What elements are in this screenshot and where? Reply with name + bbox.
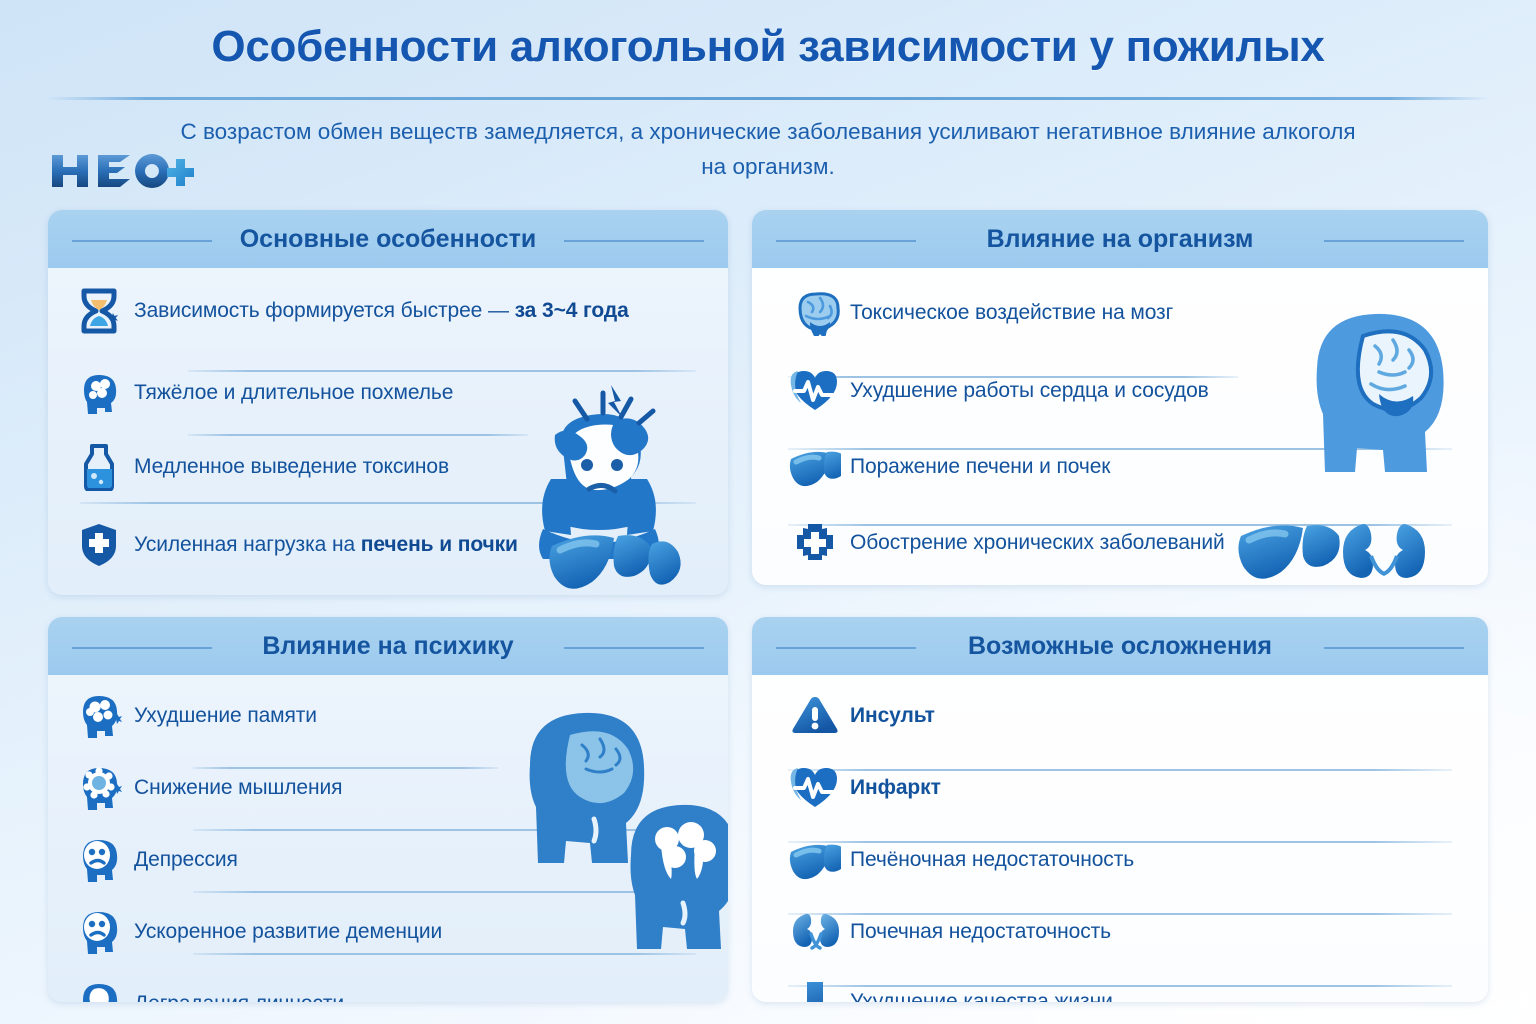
heart-pulse-icon	[788, 761, 842, 815]
card-main-features: Основные особенности	[48, 210, 728, 595]
card-title: Возможные осложнения	[950, 632, 1290, 661]
header-rule-right	[1324, 647, 1464, 649]
list-item-label: Обострение хронических заболеваний	[850, 531, 1225, 555]
list-item-label: Ухудшение работы сердца и сосудов	[850, 379, 1209, 403]
list-item-label: Усиленная нагрузка на печень и почки	[134, 533, 518, 557]
list-item[interactable]: Ухудшение памяти	[48, 689, 728, 743]
list-item[interactable]: Снижение мышления	[48, 761, 728, 815]
head-thinking-icon	[72, 761, 126, 815]
card-header: Основные особенности	[48, 210, 728, 268]
down-arrow-icon	[788, 975, 842, 1002]
card-body: Зависимость формируется быстрее — за 3~4…	[48, 284, 728, 595]
card-header: Влияние на психику	[48, 617, 728, 675]
header-rule-left	[776, 240, 916, 242]
list-item[interactable]: Медленное выведение токсинов	[48, 440, 728, 494]
list-item[interactable]: Ускоренное развитие деменции	[48, 905, 728, 959]
card-header: Влияние на организм	[752, 210, 1488, 268]
list-item-label: Ускоренное развитие деменции	[134, 920, 442, 944]
list-item[interactable]: Усиленная нагрузка на печень и почки	[48, 518, 728, 572]
row-separator	[193, 891, 696, 893]
head-dementia-icon	[72, 905, 126, 959]
liver-icon	[788, 833, 842, 887]
list-item[interactable]: Печёночная недостаточность	[752, 833, 1488, 887]
page-title: Особенности алкогольной зависимости у по…	[0, 22, 1536, 72]
card-body-effects: Влияние на организм	[752, 210, 1488, 585]
header-rule-left	[72, 240, 212, 242]
list-item-label: Почечная недостаточность	[850, 920, 1111, 944]
list-item-label: Тяжёлое и длительное похмелье	[134, 381, 453, 405]
head-degrade-icon	[72, 977, 126, 1002]
list-item-label: Ухудшение памяти	[134, 704, 317, 728]
list-item[interactable]: Зависимость формируется быстрее — за 3~4…	[48, 284, 728, 338]
list-item-label: Снижение мышления	[134, 776, 342, 800]
list-item[interactable]: Обострение хронических заболеваний	[752, 516, 1488, 570]
list-item-label: Поражение печени и почек	[850, 455, 1110, 479]
card-title: Влияние на организм	[969, 225, 1272, 254]
heart-pulse-icon	[788, 364, 842, 418]
list-item-label: Печёночная недостаточность	[850, 848, 1134, 872]
header-rule-right	[564, 647, 704, 649]
liver-icon	[788, 440, 842, 494]
list-item-label: Инсульт	[850, 704, 935, 728]
brand-logo	[48, 148, 198, 194]
header-rule-right	[564, 240, 704, 242]
card-title: Влияние на психику	[244, 632, 531, 661]
infographic-canvas: Особенности алкогольной зависимости у по…	[0, 0, 1536, 1024]
head-sad-icon	[72, 833, 126, 887]
shield-cross-icon	[72, 518, 126, 572]
row-separator	[188, 434, 528, 436]
head-memory-icon	[72, 689, 126, 743]
card-psyche-effects: Влияние на психику	[48, 617, 728, 1002]
card-body: Токсическое воздействие на мозг Ухудшени…	[752, 286, 1488, 585]
row-separator	[80, 502, 696, 504]
title-divider	[46, 97, 1490, 100]
card-title: Основные особенности	[222, 225, 555, 254]
list-item[interactable]: Токсическое воздействие на мозг	[752, 286, 1488, 340]
row-separator	[193, 829, 696, 831]
list-item[interactable]: Инфаркт	[752, 761, 1488, 815]
list-item-label: Медленное выведение токсинов	[134, 455, 449, 479]
header-rule-left	[776, 647, 916, 649]
card-header: Возможные осложнения	[752, 617, 1488, 675]
medical-cross-icon	[788, 516, 842, 570]
list-item[interactable]: Ухудшение качества жизни	[752, 975, 1488, 1002]
flask-icon	[72, 440, 126, 494]
brain-icon	[788, 286, 842, 340]
card-body: Инсульт Инфаркт	[752, 689, 1488, 1002]
header-rule-right	[1324, 240, 1464, 242]
card-body: Ухудшение памяти Сниже	[48, 689, 728, 1002]
list-item[interactable]: Ухудшение работы сердца и сосудов	[752, 364, 1488, 418]
list-item[interactable]: Почечная недостаточность	[752, 905, 1488, 959]
page-subtitle: С возрастом обмен веществ замедляется, а…	[178, 114, 1358, 184]
warning-triangle-icon	[788, 689, 842, 743]
header-rule-left	[72, 647, 212, 649]
list-item-label: Депрессия	[134, 848, 238, 872]
list-item-label: Ухудшение качества жизни	[850, 990, 1113, 1002]
list-item[interactable]: Деградация личности	[48, 977, 728, 1002]
list-item[interactable]: Депрессия	[48, 833, 728, 887]
head-pain-icon	[72, 366, 126, 420]
list-item[interactable]: Тяжёлое и длительное похмелье	[48, 366, 728, 420]
list-item-label: Инфаркт	[850, 776, 941, 800]
list-item[interactable]: Инсульт	[752, 689, 1488, 743]
list-item[interactable]: Поражение печени и почек	[752, 440, 1488, 494]
card-complications: Возможные осложнения Инсульт	[752, 617, 1488, 1002]
list-item-label: Деградация личности	[134, 992, 344, 1002]
list-item-label: Токсическое воздействие на мозг	[850, 301, 1173, 325]
list-item-label: Зависимость формируется быстрее — за 3~4…	[134, 299, 629, 323]
kidney-icon	[788, 905, 842, 959]
hourglass-icon	[72, 284, 126, 338]
